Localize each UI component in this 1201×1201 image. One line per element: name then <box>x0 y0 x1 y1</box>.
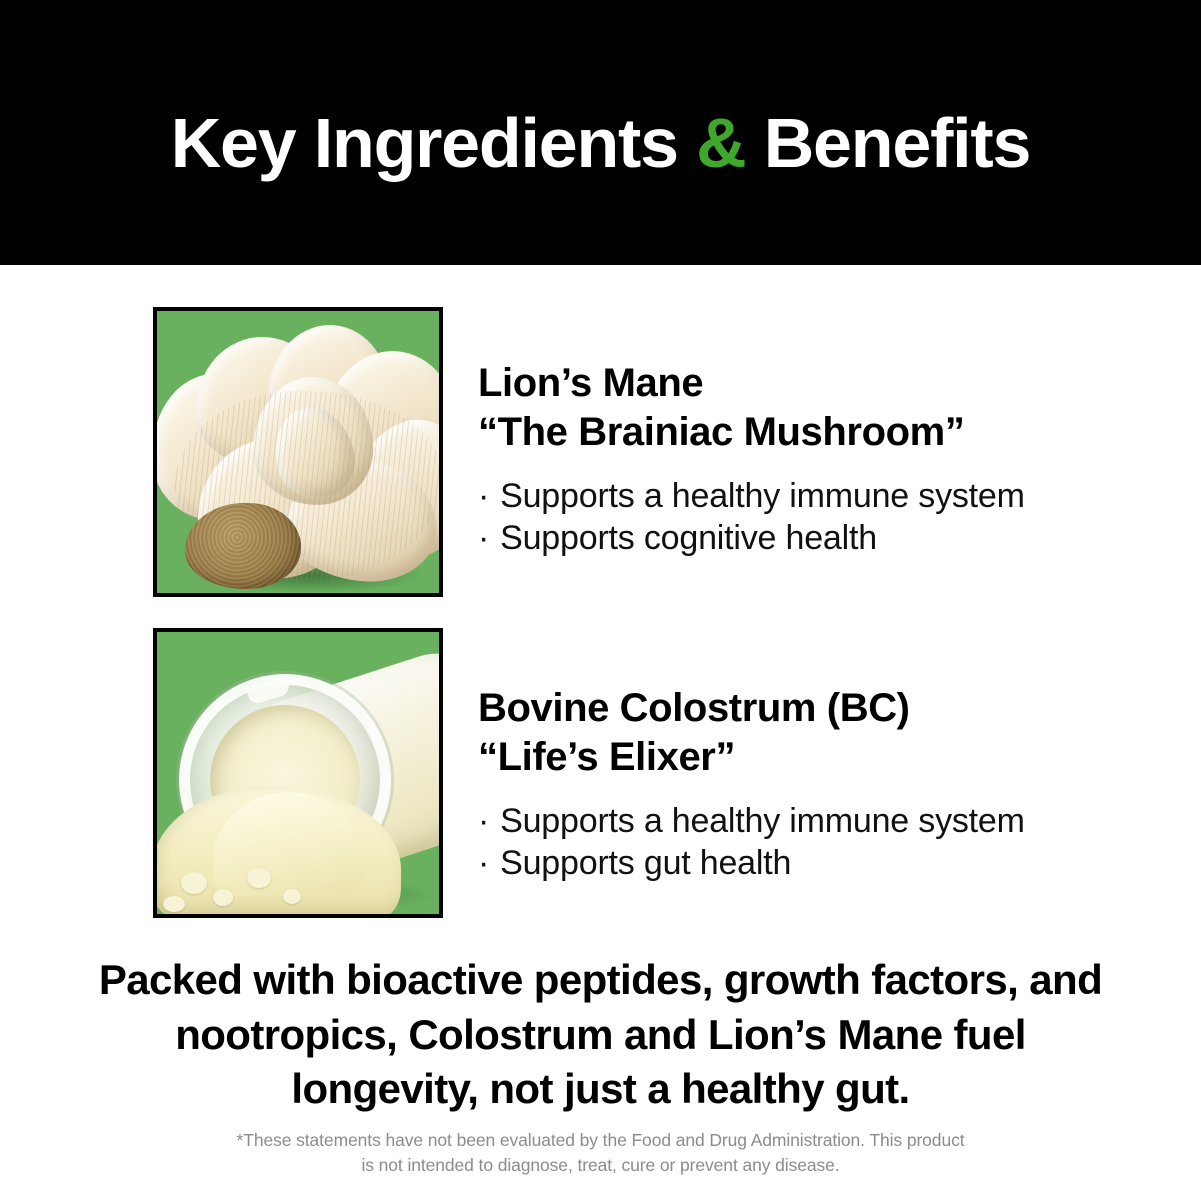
header-band: Key Ingredients & Benefits <box>0 0 1201 265</box>
ingredient-name: Bovine Colostrum (BC) <box>478 684 1025 733</box>
benefit-item: ·Supports gut health <box>478 842 1025 884</box>
ingredient-row-bovine-colostrum: Bovine Colostrum (BC) “Life’s Elixer” ·S… <box>153 628 1025 918</box>
bovine-colostrum-benefit-list: ·Supports a healthy immune system ·Suppo… <box>478 800 1025 884</box>
bovine-colostrum-image-tile <box>153 628 443 918</box>
mushroom-base <box>185 503 301 589</box>
page-title: Key Ingredients & Benefits <box>0 108 1201 178</box>
bullet-dot-icon: · <box>478 517 489 559</box>
lions-mane-mushroom-photo <box>157 311 439 593</box>
benefit-text: Supports a healthy immune system <box>500 475 1025 517</box>
powder-speck <box>247 868 271 888</box>
powder-speck <box>163 896 185 912</box>
fda-disclaimer: *These statements have not been evaluate… <box>0 1128 1201 1178</box>
lions-mane-image-tile <box>153 307 443 597</box>
benefit-item: ·Supports a healthy immune system <box>478 800 1025 842</box>
tub-lid-notch <box>246 676 292 706</box>
ingredient-nickname: “Life’s Elixer” <box>478 733 1025 782</box>
benefit-item: ·Supports a healthy immune system <box>478 475 1025 517</box>
page-title-part2: Benefits <box>745 104 1030 182</box>
page-title-part1: Key Ingredients <box>171 104 696 182</box>
benefit-item: ·Supports cognitive health <box>478 517 1025 559</box>
colostrum-tub-illustration <box>157 632 439 914</box>
benefit-text: Supports a healthy immune system <box>500 800 1025 842</box>
powder-mound <box>213 792 363 896</box>
disclaimer-line-2: is not intended to diagnose, treat, cure… <box>150 1153 1051 1178</box>
bovine-colostrum-powder-photo <box>157 632 439 914</box>
benefit-text: Supports gut health <box>500 842 791 884</box>
bovine-colostrum-text-column: Bovine Colostrum (BC) “Life’s Elixer” ·S… <box>478 628 1025 884</box>
lions-mane-benefit-list: ·Supports a healthy immune system ·Suppo… <box>478 475 1025 559</box>
bullet-dot-icon: · <box>478 800 489 842</box>
ingredient-nickname: “The Brainiac Mushroom” <box>478 408 1025 457</box>
bullet-dot-icon: · <box>478 842 489 884</box>
summary-statement: Packed with bioactive peptides, growth f… <box>0 953 1201 1117</box>
lions-mane-text-column: Lion’s Mane “The Brainiac Mushroom” ·Sup… <box>478 307 1025 559</box>
ingredient-row-lions-mane: Lion’s Mane “The Brainiac Mushroom” ·Sup… <box>153 307 1025 597</box>
ingredient-name: Lion’s Mane <box>478 359 1025 408</box>
infographic-page: Key Ingredients & Benefits <box>0 0 1201 1201</box>
bullet-dot-icon: · <box>478 475 489 517</box>
powder-speck <box>181 872 207 894</box>
benefit-text: Supports cognitive health <box>500 517 877 559</box>
powder-speck <box>283 889 301 904</box>
powder-speck <box>213 889 233 906</box>
mushroom-illustration <box>157 311 439 593</box>
disclaimer-line-1: *These statements have not been evaluate… <box>150 1128 1051 1153</box>
ampersand-accent: & <box>696 104 745 182</box>
